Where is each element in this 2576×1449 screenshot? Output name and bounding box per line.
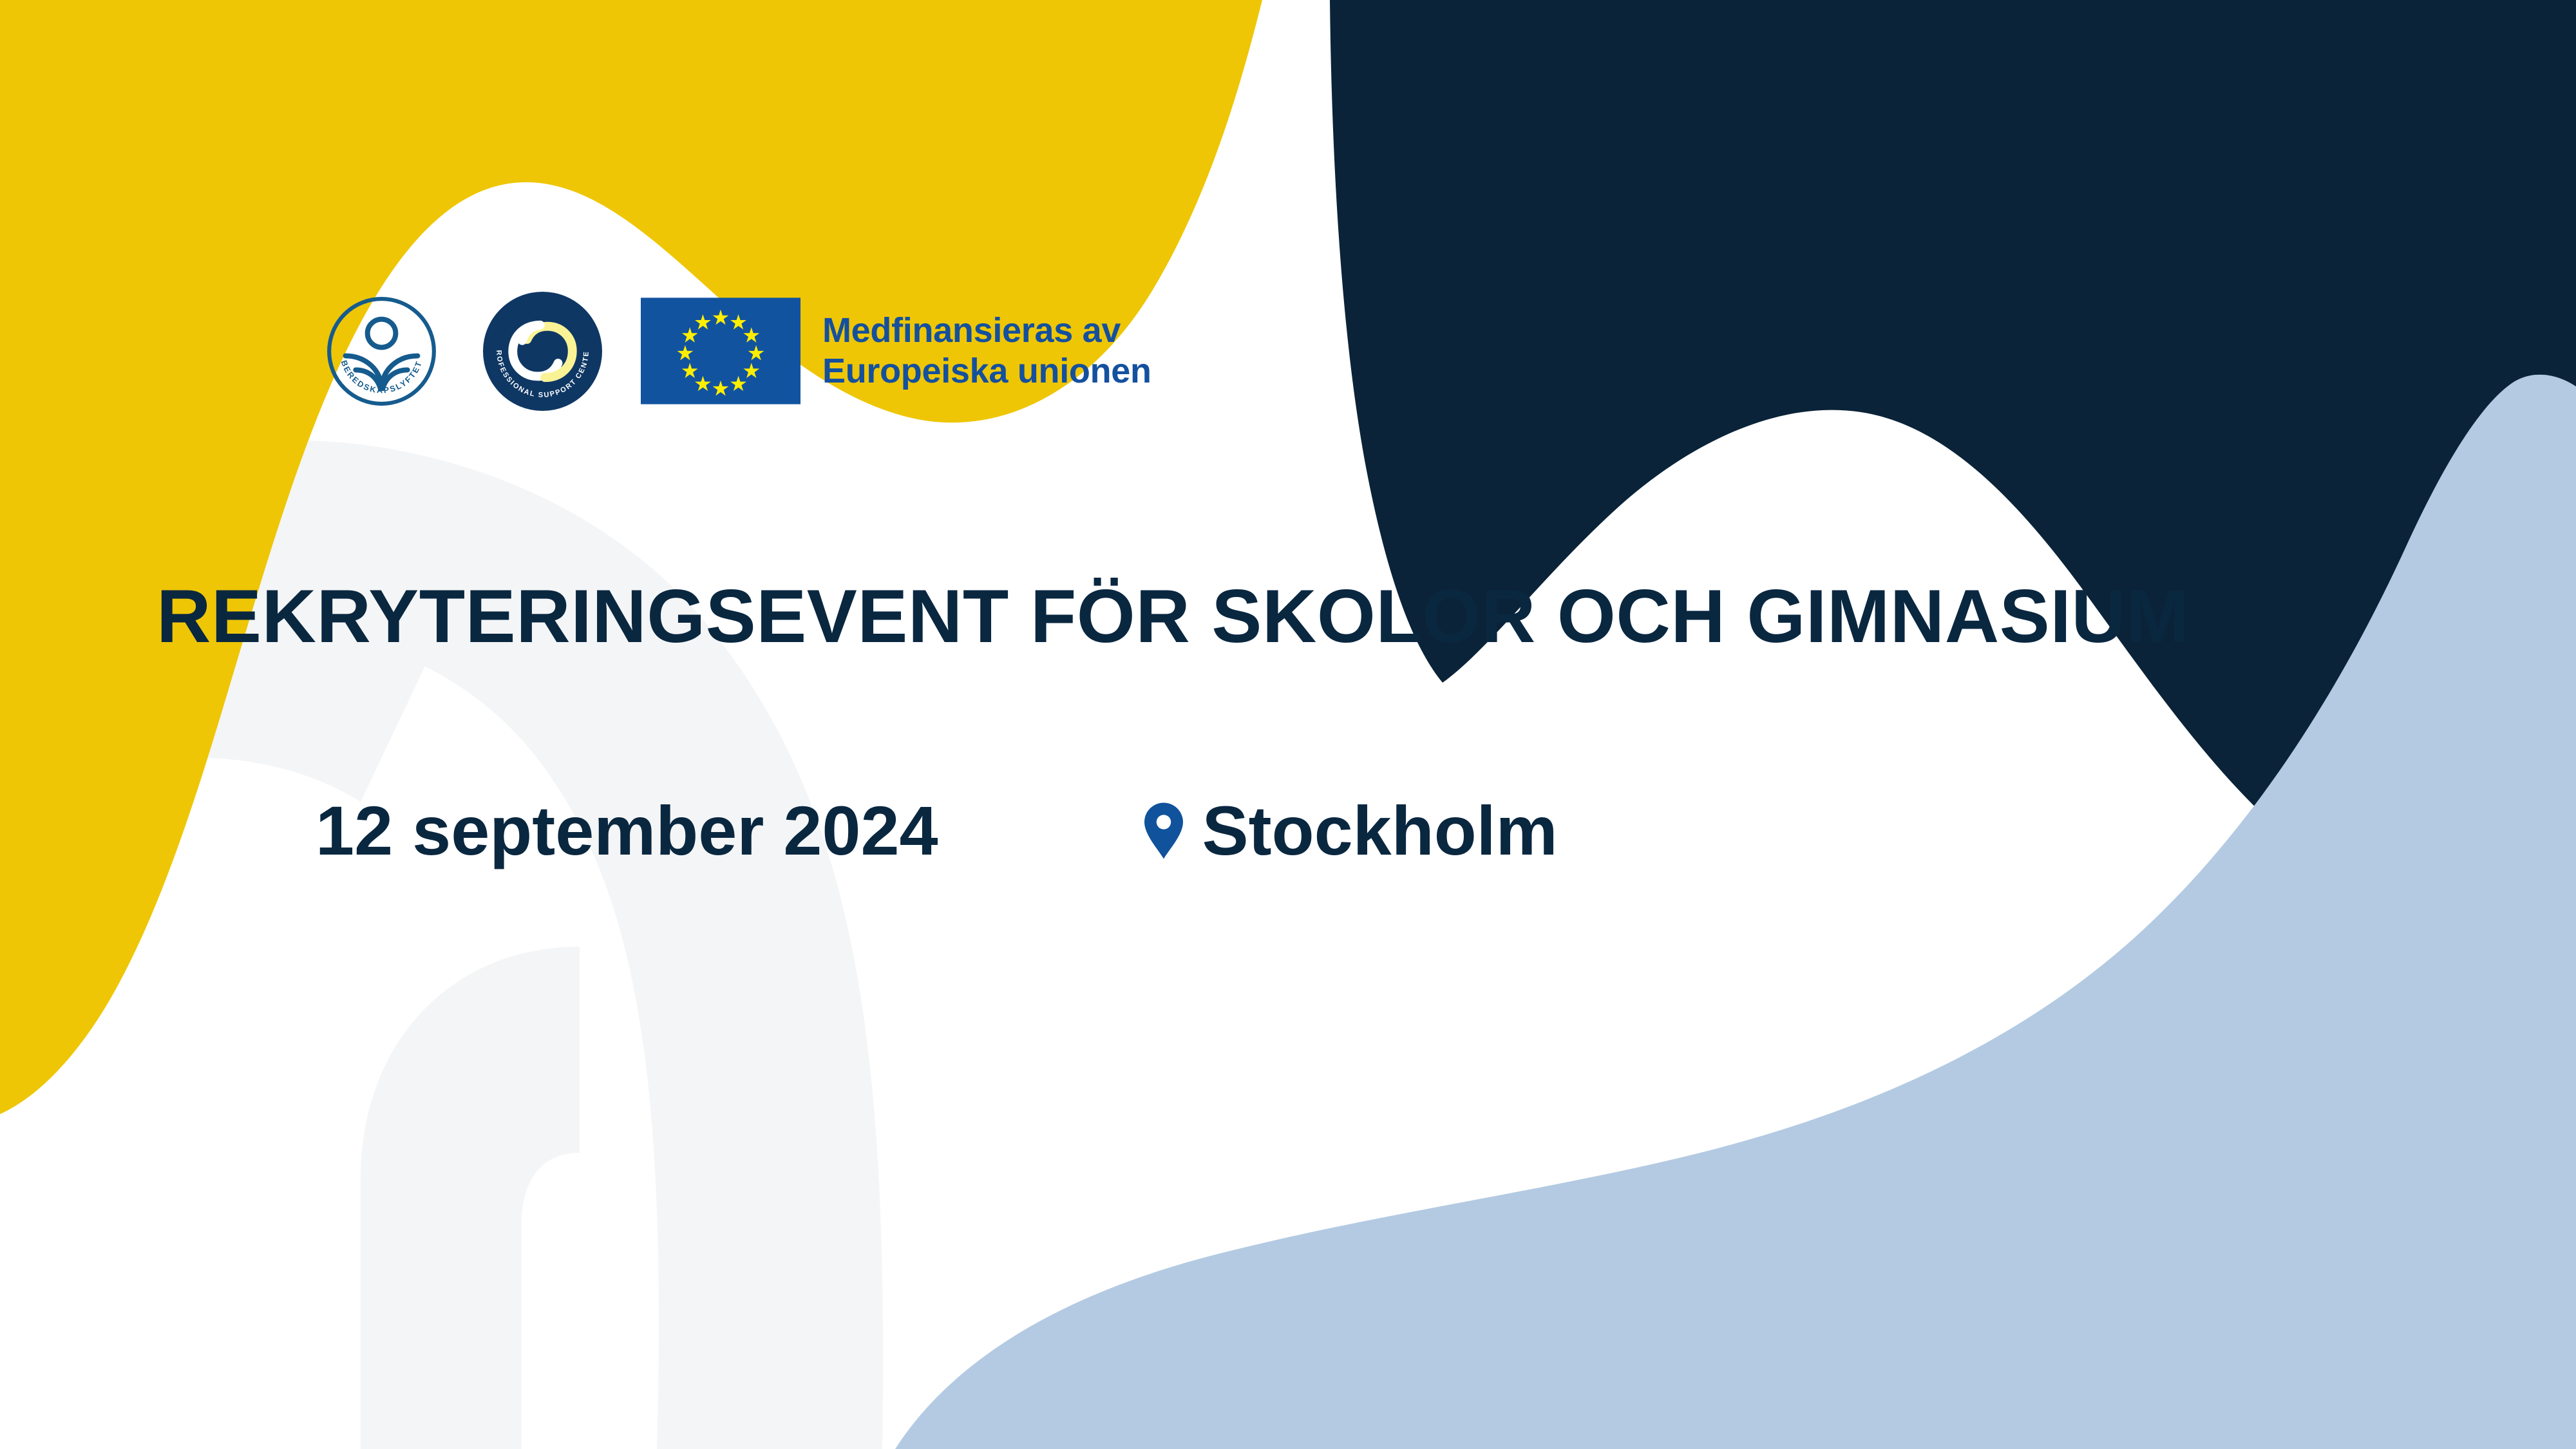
event-location: Stockholm <box>1202 796 1558 866</box>
eu-funding-block: Medfinansieras av Europeiska unionen <box>641 298 1151 404</box>
eu-funding-text-line-1: Medfinansieras av <box>822 310 1151 351</box>
event-location-group: Stockholm <box>1144 796 1558 866</box>
event-poster: BEREDSKAPSLYFTET PROFESSIONAL SUPPORT CE… <box>0 0 2576 1449</box>
eu-funding-text: Medfinansieras av Europeiska unionen <box>822 310 1151 391</box>
event-date: 12 september 2024 <box>316 796 938 866</box>
page-title: REKRYTERINGSEVENT FÖR SKOLOR OCH GIMNASI… <box>156 578 2189 654</box>
event-meta-row: 12 september 2024 Stockholm <box>316 782 1558 879</box>
professional-support-center-badge-icon: PROFESSIONAL SUPPORT CENTER <box>483 292 602 411</box>
logo-row: BEREDSKAPSLYFTET PROFESSIONAL SUPPORT CE… <box>325 283 1151 419</box>
beredskapslyftet-badge-icon: BEREDSKAPSLYFTET <box>325 295 438 408</box>
poster-content: BEREDSKAPSLYFTET PROFESSIONAL SUPPORT CE… <box>0 0 2576 1449</box>
eu-flag-icon <box>641 298 800 404</box>
eu-funding-text-line-2: Europeiska unionen <box>822 351 1151 392</box>
map-pin-icon <box>1144 802 1183 859</box>
